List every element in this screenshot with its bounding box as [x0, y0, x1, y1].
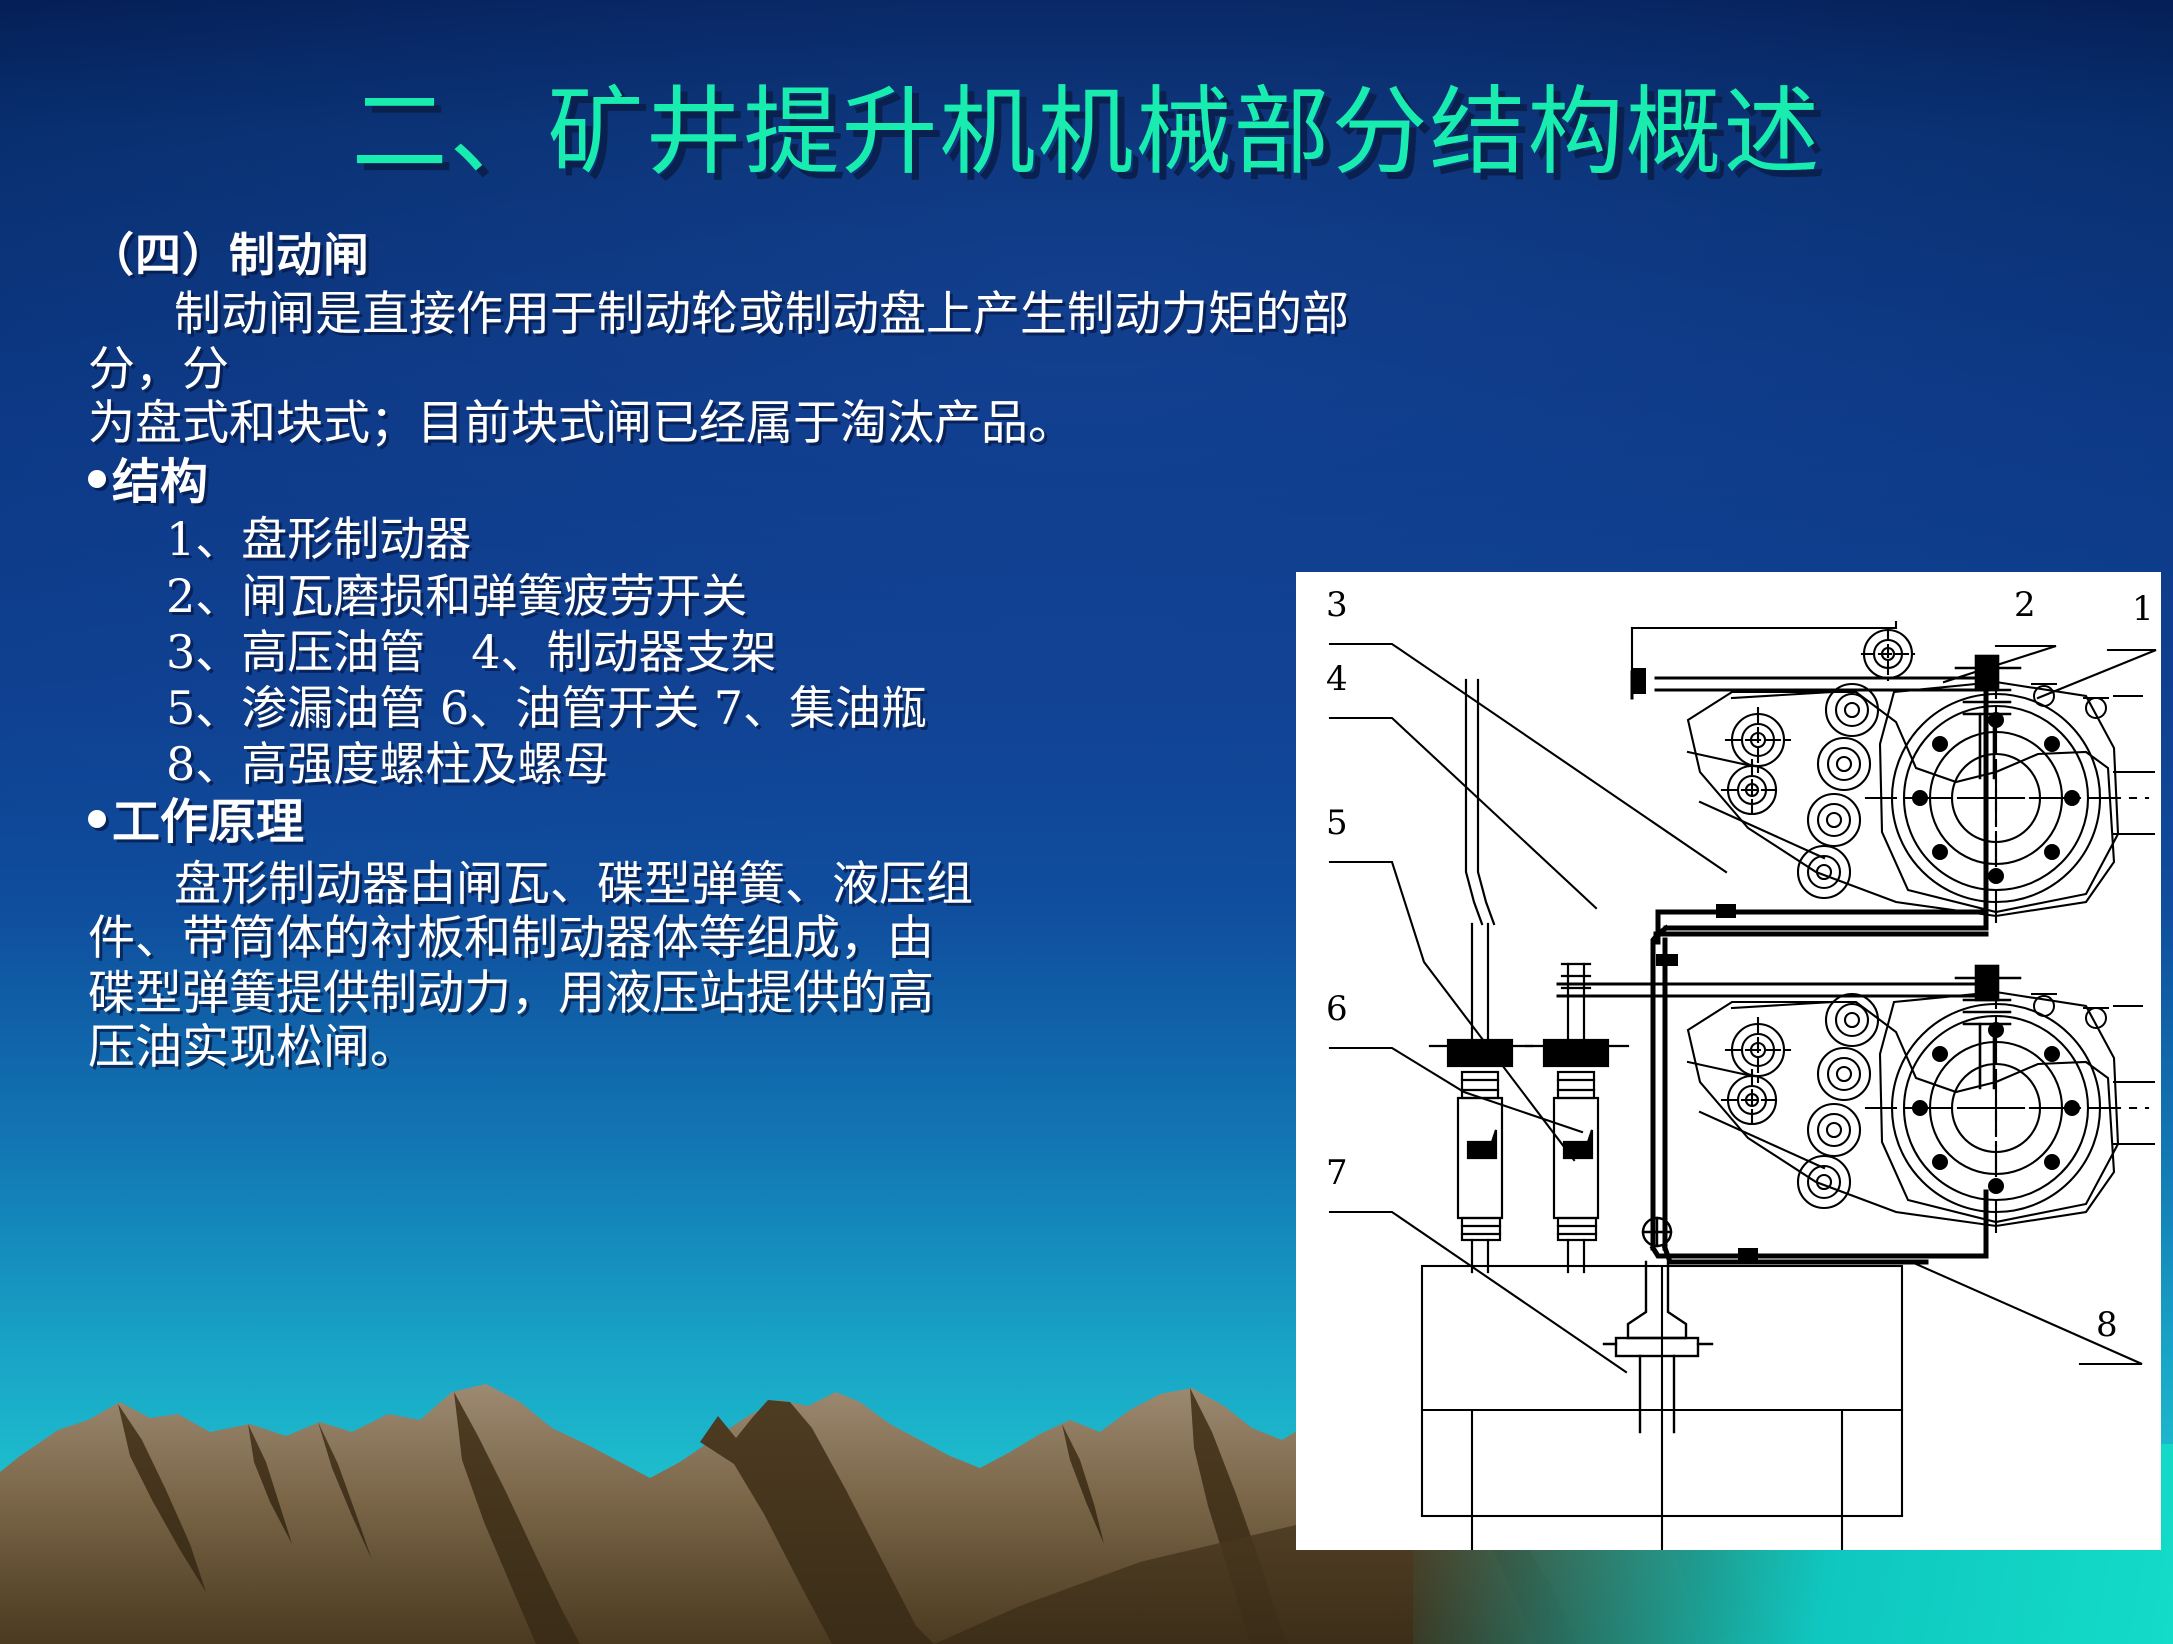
brake-unit-lower	[1688, 966, 2154, 1242]
callout-number-7: 7	[1326, 1153, 1348, 1193]
callout-number-5: 5	[1326, 803, 1348, 843]
list-item: 8、高强度螺柱及螺母	[166, 736, 1378, 792]
spring-stack-upper	[1722, 628, 1914, 898]
brake-unit-upper	[1688, 628, 2154, 932]
bullet-dot-icon	[88, 810, 106, 828]
callout-number-3: 3	[1326, 585, 1348, 625]
callout-number-4: 4	[1326, 659, 1348, 699]
intro-line-2: 为盘式和块式；目前块式闸已经属于淘汰产品。	[88, 396, 1075, 451]
presentation-slide: 二、矿井提升机机械部分结构概述 （四）制动闸 制动闸是直接作用于制动轮或制动盘上…	[0, 0, 2173, 1644]
oil-tank	[1422, 1266, 1902, 1550]
bullet-structure-label: 结构	[112, 454, 208, 512]
principle-line-3: 碟型弹簧提供制动力，用液压站提供的高	[88, 966, 934, 1021]
list-item: 3、高压油管 4、制动器支架	[166, 624, 1378, 680]
intro-paragraph: 制动闸是直接作用于制动轮或制动盘上产生制动力矩的部分，分 为盘式和块式；目前块式…	[88, 288, 1378, 452]
callout-number-6: 6	[1326, 989, 1348, 1029]
technical-drawing: 3 4 5 6 7 2 1 8	[1296, 572, 2161, 1550]
callout-number-8: 8	[2096, 1305, 2118, 1345]
callout-number-2: 2	[2014, 585, 2036, 625]
principle-line-4: 压油实现松闸。	[88, 1020, 417, 1075]
list-item: 2、闸瓦磨损和弹簧疲劳开关	[166, 568, 1378, 624]
list-item: 1、盘形制动器	[166, 511, 1378, 567]
bullet-principle: 工作原理	[88, 794, 1378, 852]
intro-line-1: 制动闸是直接作用于制动轮或制动盘上产生制动力矩的部分，分	[88, 287, 1349, 397]
principle-paragraph: 盘形制动器由闸瓦、碟型弹簧、液压组 件、带筒体的衬板和制动器体等组成，由 碟型弹…	[88, 858, 1378, 1076]
bullet-dot-icon	[88, 470, 106, 488]
bullet-principle-label: 工作原理	[112, 794, 304, 852]
principle-line-1: 盘形制动器由闸瓦、碟型弹簧、液压组	[174, 857, 973, 912]
spring-stack-lower	[1722, 994, 1878, 1208]
structure-list: 1、盘形制动器 2、闸瓦磨损和弹簧疲劳开关 3、高压油管 4、制动器支架 5、渗…	[88, 511, 1378, 792]
callout-number-1: 1	[2132, 589, 2154, 629]
page-title: 二、矿井提升机机械部分结构概述	[0, 54, 2173, 193]
brake-assembly-schematic: 3 4 5 6 7 2 1 8	[1296, 572, 2161, 1550]
section-heading: （四）制动闸	[88, 228, 1378, 282]
principle-line-2: 件、带筒体的衬板和制动器体等组成，由	[88, 911, 934, 966]
bullet-structure: 结构	[88, 454, 1378, 512]
oil-collector	[1604, 1218, 1712, 1432]
list-item: 5、渗漏油管 6、油管开关 7、集油瓶	[166, 680, 1378, 736]
content-body: （四）制动闸 制动闸是直接作用于制动轮或制动盘上产生制动力矩的部分，分 为盘式和…	[88, 228, 1378, 1076]
